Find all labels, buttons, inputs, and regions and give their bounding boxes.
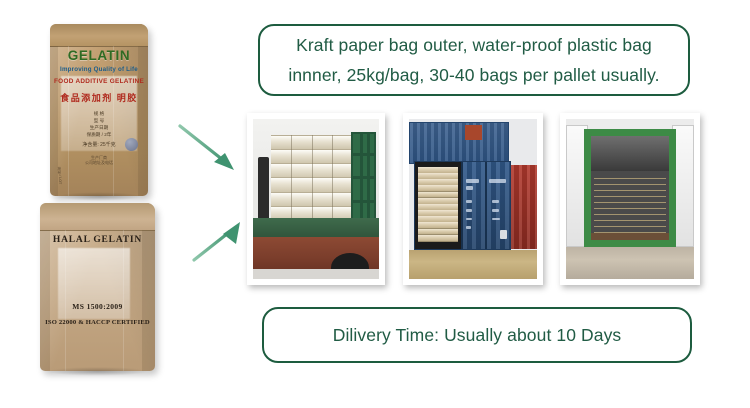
photo-bag-stack (271, 135, 357, 218)
bag-small-print: 生产厂商 公司地址及电话 (50, 155, 148, 166)
bag-title-halal-gelatin: HALAL GELATIN (40, 235, 155, 245)
bag-body: GELATIN Improving Quality of Life FOOD A… (50, 24, 148, 196)
photo-green-container-loaded (560, 113, 700, 285)
bag-edge-shadow (40, 230, 50, 371)
photo-image (566, 119, 694, 279)
photo-bag-stack (594, 172, 666, 233)
infographic-canvas: GELATIN Improving Quality of Life FOOD A… (0, 0, 750, 408)
photo-image (409, 119, 537, 279)
bag-brand-gelatin: GELATIN (50, 48, 148, 63)
bag-drop-shadow (56, 192, 142, 201)
bag-spec-lines: 规 格 型 号 生产日期 保质期 / 2年 (50, 110, 148, 138)
bag-subtitle-food-additive: FOOD ADDITIVE GELATINE (50, 78, 148, 85)
product-bag-halal: HALAL GELATIN MS 1500:2009 ISO 22000 & H… (40, 203, 155, 371)
photo-bags-on-truck (247, 113, 385, 285)
delivery-time-callout: Dilivery Time: Usually about 10 Days (262, 307, 692, 363)
photo-blue-container-loading (403, 113, 543, 285)
bag-drop-shadow (47, 367, 148, 376)
photo-ground (566, 247, 694, 279)
bag-top-fold (50, 24, 148, 47)
photo-stacked-container (409, 122, 509, 164)
arrow-bottom-icon (192, 218, 252, 264)
photo-truck-railing (351, 132, 376, 225)
packaging-info-text: Kraft paper bag outer, water-proof plast… (288, 30, 659, 90)
bag-certification-iso: ISO 22000 & HACCP CERTIFIED (40, 319, 155, 326)
bag-top-fold (40, 203, 155, 231)
product-bag-gelatin: GELATIN Improving Quality of Life FOOD A… (50, 24, 148, 196)
photo-container-door (485, 162, 511, 250)
photo-ground (253, 269, 379, 279)
bag-tagline: Improving Quality of Life (50, 66, 148, 73)
photo-container-patch (465, 125, 482, 139)
photo-blue-container (414, 161, 511, 251)
photo-image (253, 119, 379, 279)
photo-container-floor (591, 233, 669, 240)
bag-side-code: 批号 / LOT (57, 167, 62, 184)
delivery-time-text: Dilivery Time: Usually about 10 Days (333, 320, 622, 350)
bag-chinese-label: 食品添加剂 明胶 (50, 91, 148, 104)
packaging-info-callout: Kraft paper bag outer, water-proof plast… (258, 24, 690, 96)
quality-seal-icon (125, 138, 138, 151)
photo-container-frame (584, 129, 676, 247)
photo-bag-stack (418, 167, 458, 244)
bag-standard-ms1500: MS 1500:2009 (40, 302, 155, 311)
photo-red-container (511, 165, 537, 248)
photo-container-door (461, 162, 485, 250)
photo-container-ceiling (591, 136, 669, 171)
arrow-top-icon (178, 122, 250, 178)
photo-ground (409, 250, 537, 279)
bag-edge-shadow (142, 230, 155, 371)
bag-body: HALAL GELATIN MS 1500:2009 ISO 22000 & H… (40, 203, 155, 371)
